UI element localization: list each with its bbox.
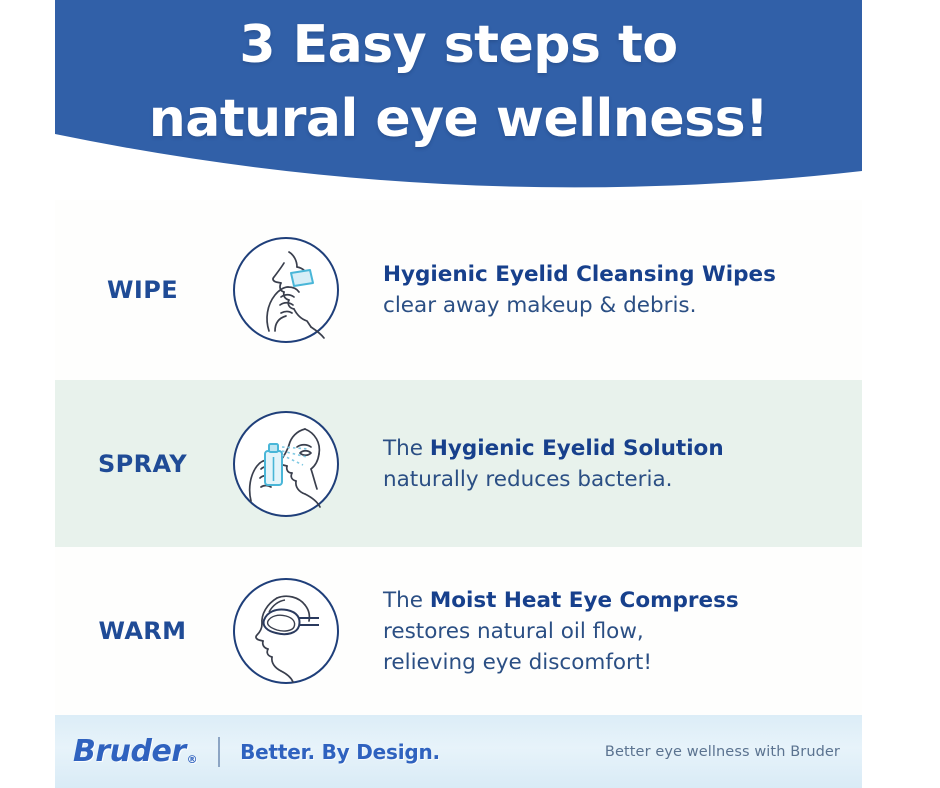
step-text-regular: relieving eye discomfort! bbox=[383, 650, 652, 675]
step-text-wipe: Hygienic Eyelid Cleansing Wipes clear aw… bbox=[342, 259, 862, 321]
bruder-logo-wordmark: Bruder bbox=[73, 734, 186, 769]
step-text-line: naturally reduces bacteria. bbox=[383, 464, 862, 495]
face-spray-bottle-icon bbox=[230, 408, 342, 520]
bruder-logo: Bruder® bbox=[73, 734, 196, 769]
step-text-regular: clear away makeup & debris. bbox=[383, 293, 696, 318]
step-label-wipe: WIPE bbox=[55, 276, 230, 304]
header-banner: 3 Easy steps to natural eye wellness! bbox=[55, 0, 862, 200]
footer-divider bbox=[218, 737, 220, 767]
step-text-line: clear away makeup & debris. bbox=[383, 290, 862, 321]
step-text-spray: The Hygienic Eyelid Solution naturally r… bbox=[342, 433, 862, 495]
registered-trademark-icon: ® bbox=[187, 753, 198, 766]
infographic-canvas: 3 Easy steps to natural eye wellness! WI… bbox=[0, 0, 940, 788]
face-wipe-icon bbox=[230, 234, 342, 346]
step-text-bold: Moist Heat Eye Compress bbox=[430, 588, 739, 613]
step-text-prefix: The bbox=[383, 588, 430, 613]
step-text-regular: naturally reduces bacteria. bbox=[383, 467, 672, 492]
step-text-line: relieving eye discomfort! bbox=[383, 647, 862, 678]
step-text-line: Hygienic Eyelid Cleansing Wipes bbox=[383, 259, 862, 290]
steps-list: WIPE bbox=[55, 200, 862, 715]
step-text-regular: restores natural oil flow, bbox=[383, 619, 644, 644]
step-text-prefix: The bbox=[383, 436, 430, 461]
step-text-line: restores natural oil flow, bbox=[383, 616, 862, 647]
step-label-warm: WARM bbox=[55, 617, 230, 645]
spray-bottle-shape bbox=[265, 444, 282, 485]
footer-note: Better eye wellness with Bruder bbox=[605, 744, 840, 760]
step-label-spray: SPRAY bbox=[55, 450, 230, 478]
step-row-spray: SPRAY bbox=[55, 380, 862, 547]
step-text-line: The Moist Heat Eye Compress bbox=[383, 585, 862, 616]
face-eye-compress-icon bbox=[230, 575, 342, 687]
step-text-warm: The Moist Heat Eye Compress restores nat… bbox=[342, 585, 862, 678]
brand-tagline: Better. By Design. bbox=[240, 740, 440, 764]
step-text-bold: Hygienic Eyelid Solution bbox=[430, 436, 724, 461]
step-text-bold: Hygienic Eyelid Cleansing Wipes bbox=[383, 262, 776, 287]
step-row-wipe: WIPE bbox=[55, 200, 862, 380]
step-row-warm: WARM bbox=[55, 547, 862, 715]
footer-bar: Bruder® Better. By Design. Better eye we… bbox=[55, 715, 862, 788]
wipe-pad-shape bbox=[291, 270, 313, 286]
step-text-line: The Hygienic Eyelid Solution bbox=[383, 433, 862, 464]
page-title: 3 Easy steps to natural eye wellness! bbox=[55, 8, 862, 156]
